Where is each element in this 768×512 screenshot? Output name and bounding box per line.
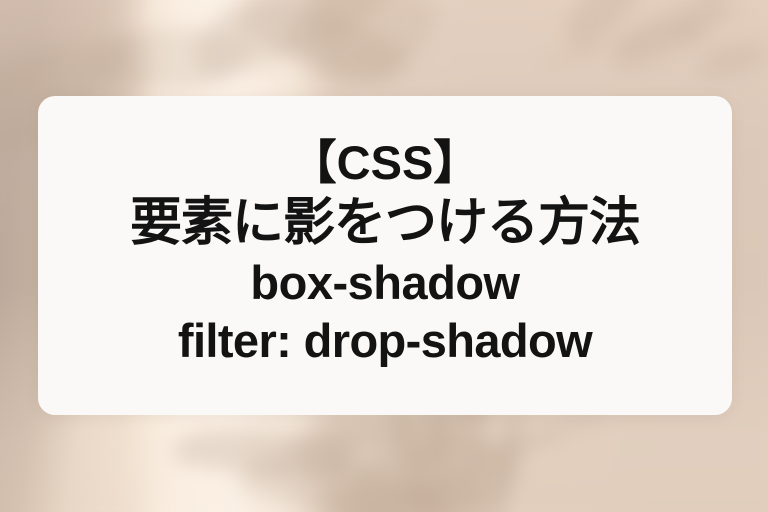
title-line-3: box-shadow: [60, 256, 710, 311]
title-line-4: filter: drop-shadow: [60, 314, 710, 369]
title-line-2: 要素に影をつける方法: [60, 193, 710, 254]
title-block: 【CSS】 要素に影をつける方法 box-shadow filter: drop…: [60, 136, 710, 370]
title-line-1: 【CSS】: [60, 136, 710, 191]
leaf-shadow-right-4: [699, 41, 768, 78]
title-card: 【CSS】 要素に影をつける方法 box-shadow filter: drop…: [38, 96, 732, 415]
thumbnail-canvas: 【CSS】 要素に影をつける方法 box-shadow filter: drop…: [0, 0, 768, 512]
